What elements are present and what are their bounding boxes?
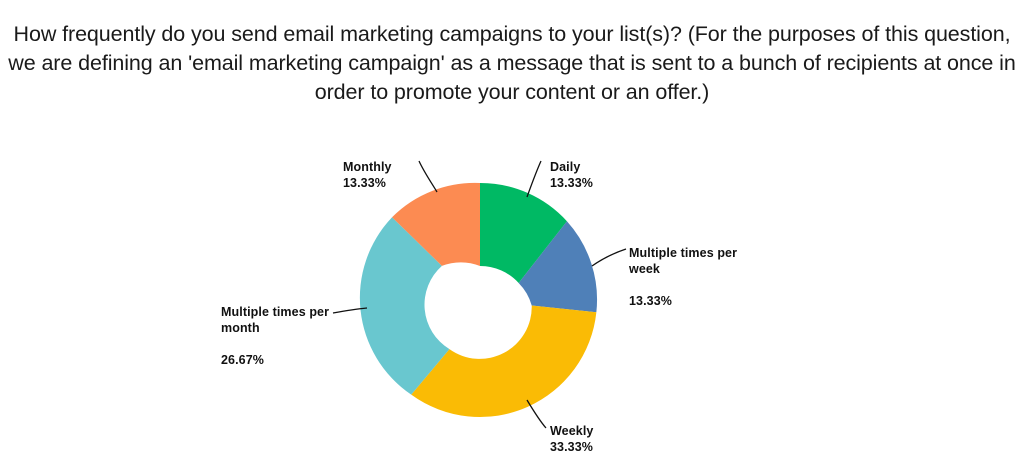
slice-label-weekly: Weekly 33.33% <box>550 423 670 455</box>
donut-chart-figure: How frequently do you send email marketi… <box>0 0 1024 471</box>
donut-chart-area <box>0 0 1024 471</box>
slice-label-daily-text: Daily <box>550 159 690 175</box>
slice-label-daily: Daily 13.33% <box>550 159 690 191</box>
donut-chart-svg <box>0 0 1024 471</box>
slice-label-multiple-times-per-month: Multiple times per month 26.67% <box>221 304 351 368</box>
leader-line-daily <box>527 161 541 197</box>
slice-value-monthly: 13.33% <box>343 175 463 191</box>
slice-label-multiple-times-per-week-text: Multiple times per week <box>629 245 759 277</box>
slice-label-multiple-times-per-week: Multiple times per week 13.33% <box>629 245 759 309</box>
slice-label-monthly-text: Monthly <box>343 159 463 175</box>
leader-line-multiple-times-per-week <box>592 249 626 266</box>
leader-line-weekly <box>527 400 546 428</box>
slice-label-multiple-times-per-month-text: Multiple times per month <box>221 304 351 336</box>
slice-label-weekly-text: Weekly <box>550 423 670 439</box>
slice-value-weekly: 33.33% <box>550 439 670 455</box>
slice-value-multiple-times-per-month: 26.67% <box>221 352 351 368</box>
slice-value-daily: 13.33% <box>550 175 690 191</box>
slice-label-monthly: Monthly 13.33% <box>343 159 463 191</box>
slice-value-multiple-times-per-week: 13.33% <box>629 293 759 309</box>
